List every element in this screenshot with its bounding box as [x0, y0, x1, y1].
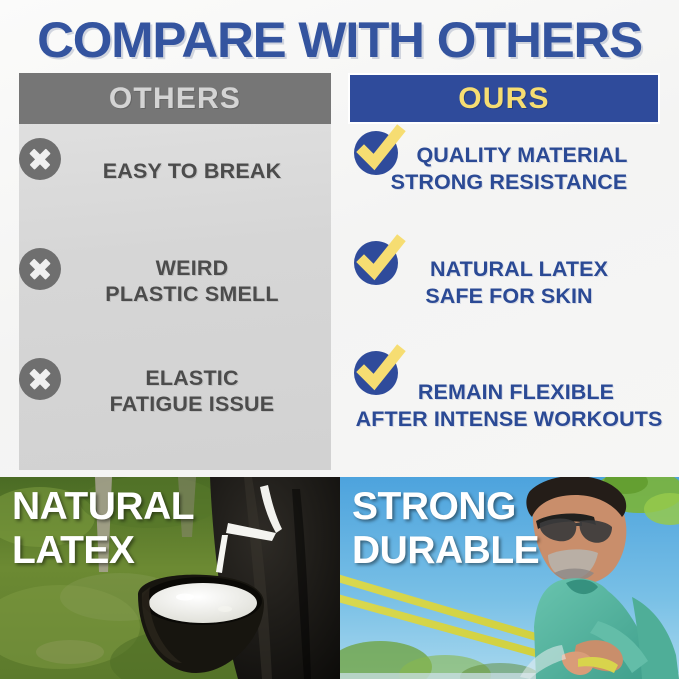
ours-item-line2: STRONG RESISTANCE: [348, 169, 670, 196]
natural-latex-caption: NATURAL LATEX: [12, 485, 194, 573]
strong-durable-caption: STRONG DURABLE: [352, 485, 539, 573]
others-header-bar: OTHERS: [19, 73, 331, 124]
others-item-line2: FATIGUE ISSUE: [61, 391, 323, 417]
others-header-label: OTHERS: [109, 82, 241, 116]
comparison-infographic: COMPARE WITH OTHERS OTHERS EASY TO BREAK: [0, 0, 679, 679]
page-title: COMPARE WITH OTHERS: [0, 14, 679, 66]
others-item-text: WEIRD PLASTIC SMELL: [61, 239, 323, 307]
others-items-list: EASY TO BREAK WEIRD PLASTIC SMELL: [19, 124, 331, 471]
list-item: NATURAL LATEX SAFE FOR SKIN: [348, 239, 660, 349]
ours-item-line2: SAFE FOR SKIN: [348, 283, 670, 310]
ours-item-text: NATURAL LATEX SAFE FOR SKIN: [348, 239, 670, 310]
ours-item-text: QUALITY MATERIAL STRONG RESISTANCE: [348, 129, 670, 196]
x-circle-icon: [19, 358, 61, 400]
others-item-line1: ELASTIC: [61, 365, 323, 391]
ours-item-text: REMAIN FLEXIBLE AFTER INTENSE WORKOUTS: [348, 349, 670, 433]
caption-line2: DURABLE: [352, 529, 539, 573]
list-item: WEIRD PLASTIC SMELL: [19, 239, 331, 349]
others-item-text: EASY TO BREAK: [61, 129, 323, 184]
caption-line1: NATURAL: [12, 485, 194, 529]
others-item-line2: PLASTIC SMELL: [61, 281, 323, 307]
x-circle-icon: [19, 138, 61, 180]
ours-column: OURS QUALITY MATERIAL STRONG RESISTANCE: [348, 73, 660, 471]
comparison-section: OTHERS EASY TO BREAK WEIRD: [0, 73, 679, 471]
caption-line1: STRONG: [352, 485, 539, 529]
others-item-line1: WEIRD: [61, 255, 323, 281]
ours-item-line1: QUALITY MATERIAL: [348, 142, 670, 169]
others-item-line1: EASY TO BREAK: [61, 158, 323, 184]
ours-header-label: OURS: [458, 82, 549, 116]
list-item: REMAIN FLEXIBLE AFTER INTENSE WORKOUTS: [348, 349, 660, 459]
caption-line2: LATEX: [12, 529, 194, 573]
natural-latex-photo: NATURAL LATEX: [0, 477, 340, 679]
others-column: OTHERS EASY TO BREAK WEIRD: [19, 73, 331, 471]
ours-item-line2: AFTER INTENSE WORKOUTS: [348, 406, 670, 433]
photo-strip: NATURAL LATEX: [0, 477, 679, 679]
x-circle-icon: [19, 248, 61, 290]
strong-durable-photo: STRONG DURABLE: [340, 477, 679, 679]
ours-item-line1: REMAIN FLEXIBLE: [348, 379, 670, 406]
list-item: ELASTIC FATIGUE ISSUE: [19, 349, 331, 459]
list-item: QUALITY MATERIAL STRONG RESISTANCE: [348, 129, 660, 239]
ours-header-bar: OURS: [348, 73, 660, 124]
list-item: EASY TO BREAK: [19, 129, 331, 239]
others-item-text: ELASTIC FATIGUE ISSUE: [61, 349, 323, 417]
ours-item-line1: NATURAL LATEX: [348, 256, 670, 283]
ours-items-list: QUALITY MATERIAL STRONG RESISTANCE NATUR…: [348, 124, 660, 471]
